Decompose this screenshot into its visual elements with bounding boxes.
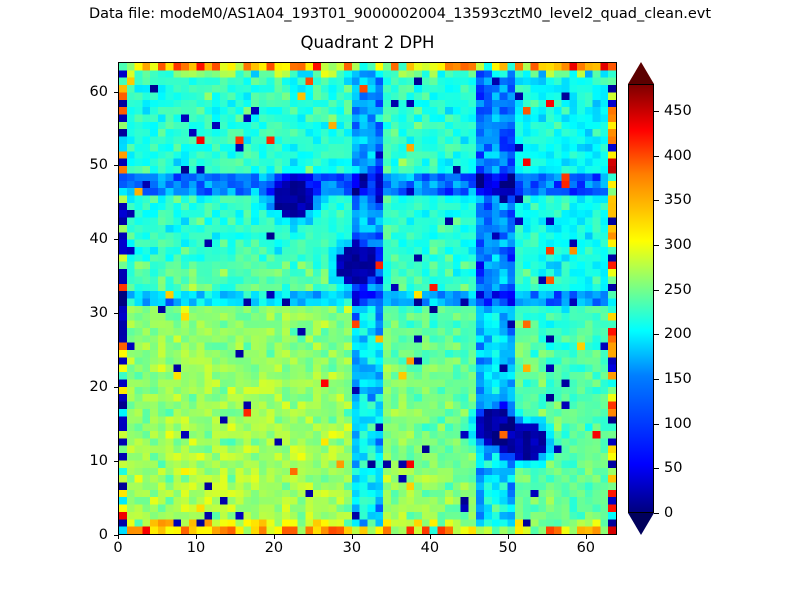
y-tick-label: 20 xyxy=(56,379,108,395)
page-title: Quadrant 2 DPH xyxy=(118,33,617,52)
x-tick-label: 60 xyxy=(577,540,595,556)
y-tick-label: 50 xyxy=(56,157,108,173)
colorbar-tick-mark xyxy=(654,379,659,380)
y-tick-mark xyxy=(114,239,118,240)
colorbar-tick-label: 150 xyxy=(664,371,692,387)
y-tick-label: 0 xyxy=(56,527,108,543)
x-tick-mark xyxy=(196,535,197,539)
colorbar-tick-mark xyxy=(654,156,659,157)
y-tick-mark xyxy=(114,387,118,388)
heatmap-plot-area[interactable] xyxy=(118,62,617,535)
y-tick-label: 60 xyxy=(56,84,108,100)
colorbar-tick-label: 400 xyxy=(664,148,692,164)
x-tick-label: 0 xyxy=(113,540,122,556)
x-tick-mark xyxy=(352,535,353,539)
colorbar-extend-top-arrow-icon xyxy=(628,62,654,84)
x-tick-mark xyxy=(118,535,119,539)
colorbar-tick-mark xyxy=(654,200,659,201)
x-tick-mark xyxy=(586,535,587,539)
y-tick-mark xyxy=(114,461,118,462)
colorbar-tick-label: 300 xyxy=(664,237,692,253)
x-tick-mark xyxy=(508,535,509,539)
colorbar-tick-mark xyxy=(654,111,659,112)
x-tick-label: 20 xyxy=(265,540,283,556)
colorbar[interactable]: 050100150200250300350400450 xyxy=(628,62,654,535)
colorbar-tick-label: 250 xyxy=(664,282,692,298)
colorbar-tick-mark xyxy=(654,468,659,469)
colorbar-tick-label: 0 xyxy=(664,505,673,521)
data-file-label: Data file: modeM0/AS1A04_193T01_90000020… xyxy=(0,6,800,22)
y-tick-label: 40 xyxy=(56,231,108,247)
x-tick-label: 40 xyxy=(421,540,439,556)
x-tick-label: 30 xyxy=(343,540,361,556)
y-tick-label: 30 xyxy=(56,305,108,321)
colorbar-tick-label: 50 xyxy=(664,460,682,476)
colorbar-tick-label: 350 xyxy=(664,192,692,208)
colorbar-gradient[interactable] xyxy=(628,84,654,513)
colorbar-tick-mark xyxy=(654,424,659,425)
colorbar-tick-mark xyxy=(654,334,659,335)
y-tick-mark xyxy=(114,313,118,314)
x-tick-label: 10 xyxy=(187,540,205,556)
colorbar-tick-mark xyxy=(654,513,659,514)
y-tick-label: 10 xyxy=(56,453,108,469)
colorbar-tick-mark xyxy=(654,290,659,291)
y-tick-mark xyxy=(114,165,118,166)
y-tick-mark xyxy=(114,535,118,536)
colorbar-tick-label: 100 xyxy=(664,416,692,432)
heatmap-image[interactable] xyxy=(119,63,616,534)
x-tick-label: 50 xyxy=(499,540,517,556)
x-tick-mark xyxy=(274,535,275,539)
colorbar-tick-label: 200 xyxy=(664,326,692,342)
colorbar-tick-label: 450 xyxy=(664,103,692,119)
colorbar-extend-bottom-arrow-icon xyxy=(628,513,654,535)
y-tick-mark xyxy=(114,92,118,93)
colorbar-tick-mark xyxy=(654,245,659,246)
x-tick-mark xyxy=(430,535,431,539)
